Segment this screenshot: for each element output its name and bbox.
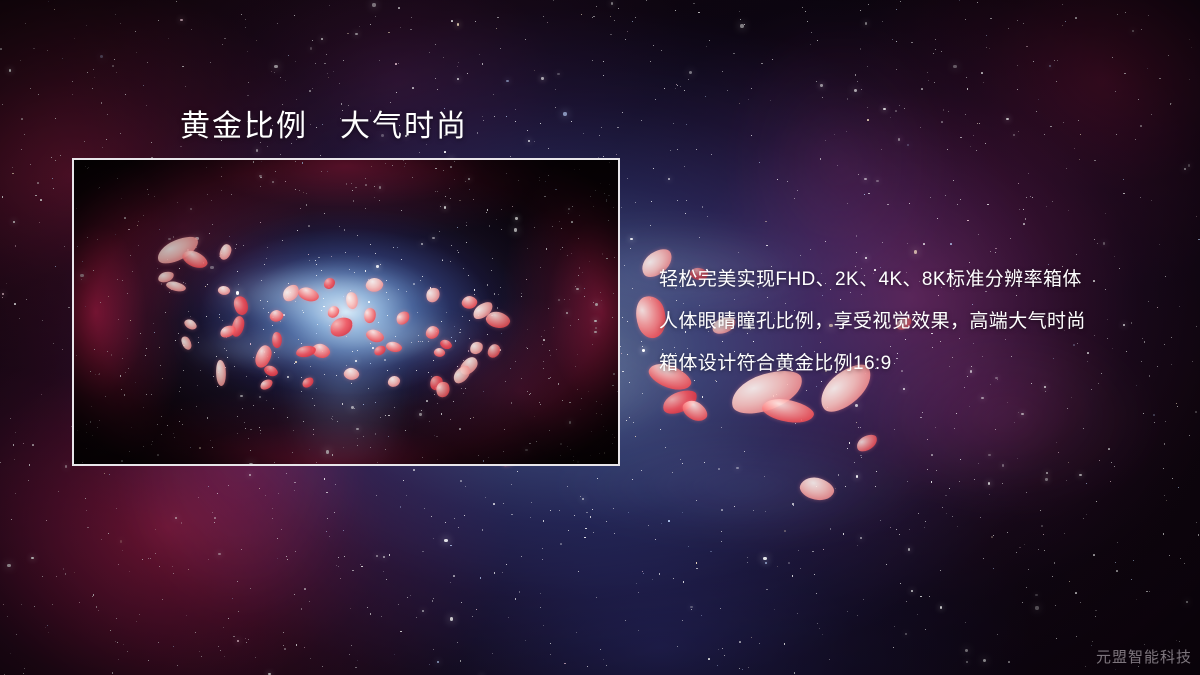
rose-petal: [660, 387, 700, 417]
rose-petal: [797, 473, 836, 505]
watermark: 元盟智能科技: [1096, 646, 1192, 667]
framed-image: [72, 158, 620, 466]
rose-petal: [679, 396, 710, 427]
slide-canvas: 黄金比例 大气时尚 轻松完美实现FHD、2K、4K、8K标准分辨率箱体 人体眼睛…: [0, 0, 1200, 675]
page-title: 黄金比例 大气时尚: [180, 101, 468, 145]
framed-vignette: [74, 160, 618, 464]
body-copy: 轻松完美实现FHD、2K、4K、8K标准分辨率箱体 人体眼睛瞳孔比例，享受视觉效…: [659, 259, 1159, 385]
framed-image-content: [74, 160, 618, 464]
body-line-3: 箱体设计符合黄金比例16:9: [659, 343, 1159, 385]
rose-petal: [760, 394, 816, 428]
rose-petal: [854, 432, 880, 454]
body-line-2: 人体眼睛瞳孔比例，享受视觉效果，高端大气时尚: [659, 301, 1159, 343]
body-line-1: 轻松完美实现FHD、2K、4K、8K标准分辨率箱体: [659, 259, 1159, 301]
